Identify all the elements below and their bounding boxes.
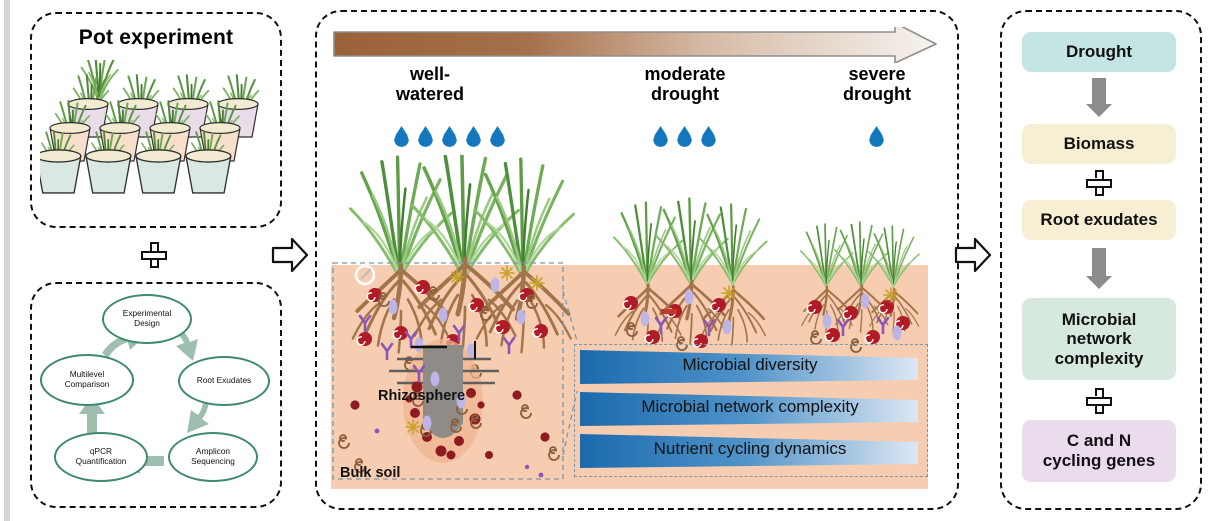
treatment-line-2: drought [843,84,911,104]
cycle-node-label: Comparison [65,379,110,389]
chain-box-root-exudates[interactable]: Root exudates [1022,200,1176,240]
chain-box-label: complexity [1055,349,1144,368]
water-drop-icon [677,126,692,147]
response-bar-label-nutrient-cycling: Nutrient cycling dynamics [578,432,922,466]
treatment-label-severe-drought: severe drought [812,64,942,104]
cycle-node-root-exudates[interactable]: Root Exudates [178,356,270,406]
chain-box-label: Microbial [1062,310,1137,329]
treatment-label-moderate-drought: moderate drought [610,64,760,104]
cycle-node-label: qPCR [90,446,112,456]
right-arrow-icon-2 [954,235,992,275]
water-drop-icon [869,126,884,147]
chain-box-label: C and N [1067,431,1131,450]
pots-illustration [40,60,272,215]
chain-box-drought[interactable]: Drought [1022,32,1176,72]
cycle-node-label: Design [134,318,160,328]
pot-experiment-title: Pot experiment [32,26,280,50]
chain-box-biomass[interactable]: Biomass [1022,124,1176,164]
plus-icon-chain-2 [1086,388,1110,412]
rhizosphere-label: Rhizosphere [378,388,465,404]
chain-box-label: Drought [1066,42,1132,62]
workflow-cycle-panel: Experimental Design Root Exudates Amplic… [30,282,282,508]
plus-icon-left-panels [141,242,167,268]
down-arrow-icon-2 [1086,248,1112,290]
cycle-node-qpcr-quantification[interactable]: qPCR Quantification [54,432,148,482]
water-drops-moderate-drought [653,126,716,147]
water-drops-severe-drought [869,126,884,147]
treatment-line-1: well- [410,64,450,84]
response-bar-label-microbial-diversity: Microbial diversity [578,348,922,382]
cycle-node-label: Amplicon [196,446,230,456]
water-drop-icon [442,126,457,147]
down-arrow-icon-1 [1086,78,1112,118]
cycle-node-label: Sequencing [191,456,235,466]
chain-box-label: cycling genes [1043,451,1155,470]
water-drops-well-watered [394,126,505,147]
cycle-node-label: Quantification [76,456,127,466]
water-drop-icon [701,126,716,147]
cycle-node-label: Experimental [123,308,171,318]
right-arrow-icon-1 [271,235,309,275]
treatment-line-1: moderate [644,64,725,84]
bulk-soil-label: Bulk soil [340,465,400,481]
cycle-node-multilevel-comparison[interactable]: Multilevel Comparison [40,354,134,406]
pot-experiment-panel: Pot experiment [30,12,282,228]
chain-box-label: network [1066,329,1131,348]
treatment-label-well-watered: well- watered [360,64,500,104]
chain-box-microbial-network-complexity[interactable]: Microbial network complexity [1022,298,1176,380]
cycle-node-label: Multilevel [70,369,105,379]
cycle-node-label: Root Exudates [197,376,251,386]
water-drop-icon [466,126,481,147]
chain-box-label: Root exudates [1040,210,1157,230]
cycle-node-experimental-design[interactable]: Experimental Design [102,294,192,344]
left-gutter-strip [4,0,10,521]
cycle-node-amplicon-sequencing[interactable]: Amplicon Sequencing [168,432,258,482]
response-bar-label-network-complexity: Microbial network complexity [578,390,922,424]
pot-array [40,60,272,215]
plus-icon-chain-1 [1086,170,1110,194]
water-drop-icon [418,126,433,147]
water-drop-icon [490,126,505,147]
chain-box-c-and-n-cycling-genes[interactable]: C and N cycling genes [1022,420,1176,482]
water-drop-icon [653,126,668,147]
chain-box-label: Biomass [1064,134,1135,154]
treatment-line-2: watered [396,84,464,104]
drought-gradient-arrow [333,27,937,56]
treatment-line-2: drought [651,84,719,104]
water-drop-icon [394,126,409,147]
treatment-line-1: severe [848,64,905,84]
